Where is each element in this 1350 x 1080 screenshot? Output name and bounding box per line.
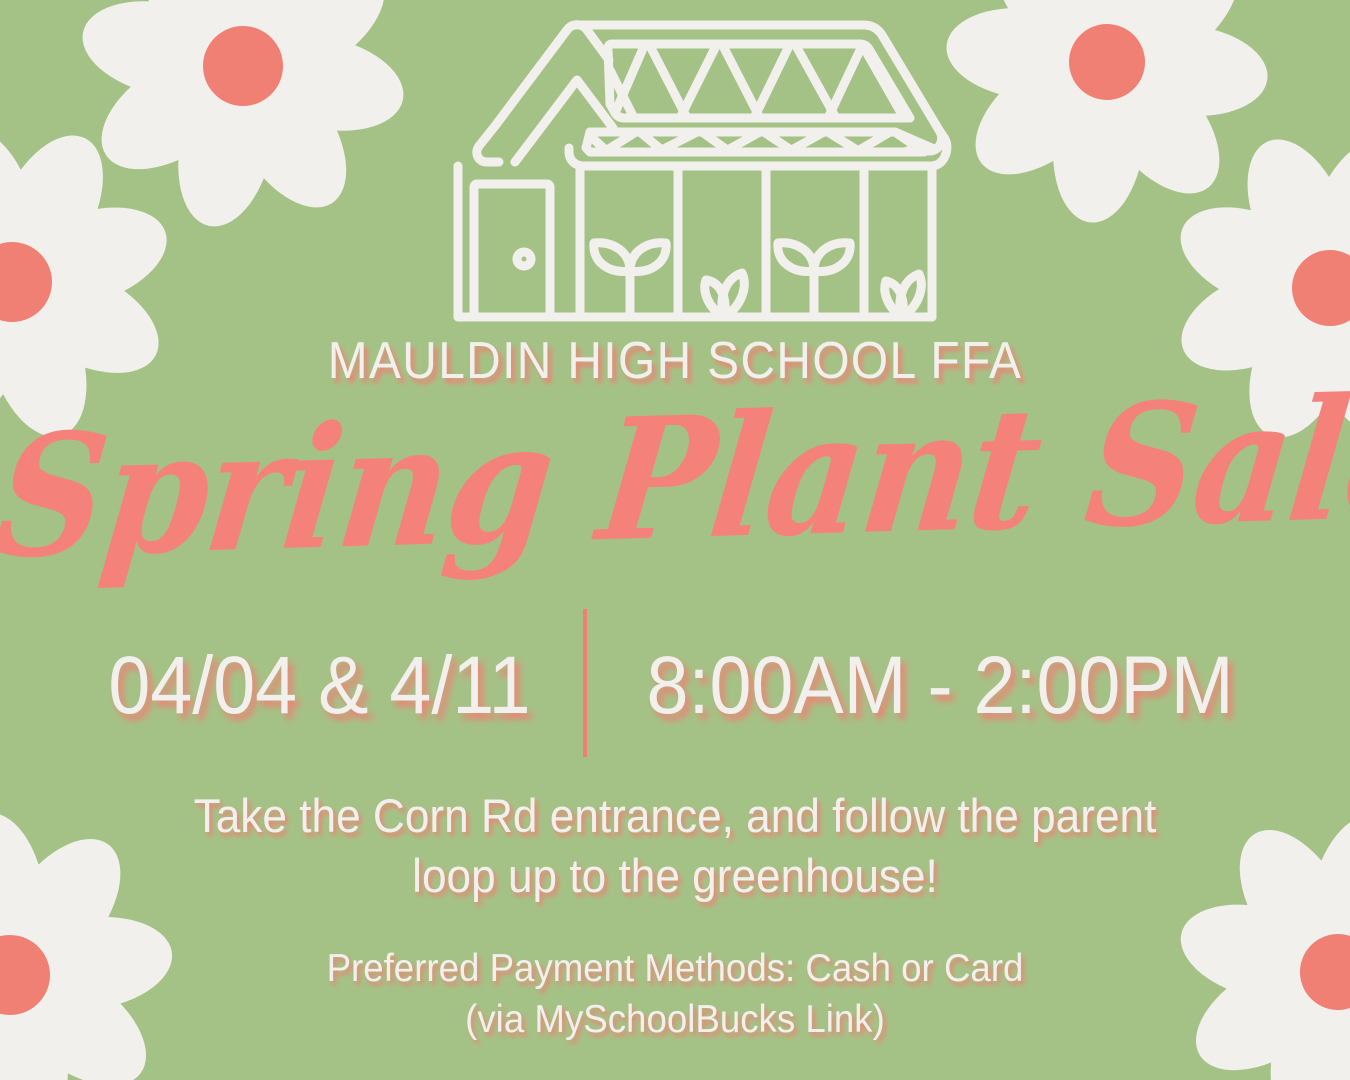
headline-script: Spring Plant Sale (0, 376, 1350, 582)
poster-text-stack: MAULDIN HIGH SCHOOL FFA Spring Plant Sal… (0, 0, 1350, 1080)
vertical-divider (583, 609, 587, 757)
spring-plant-sale-poster: MAULDIN HIGH SCHOOL FFA Spring Plant Sal… (0, 0, 1350, 1080)
directions-line-1: Take the Corn Rd entrance, and follow th… (41, 786, 1310, 846)
directions-block: Take the Corn Rd entrance, and follow th… (41, 786, 1310, 905)
date-time-row: 04/04 & 4/11 8:00AM - 2:00PM (0, 612, 1350, 760)
directions-line-2: loop up to the greenhouse! (41, 846, 1310, 906)
sale-dates: 04/04 & 4/11 (109, 645, 531, 727)
payment-block: Preferred Payment Methods: Cash or Card … (41, 944, 1310, 1045)
payment-line-1: Preferred Payment Methods: Cash or Card (41, 944, 1310, 995)
payment-line-2: (via MySchoolBucks Link) (41, 995, 1310, 1046)
sale-times: 8:00AM - 2:00PM (647, 645, 1234, 727)
